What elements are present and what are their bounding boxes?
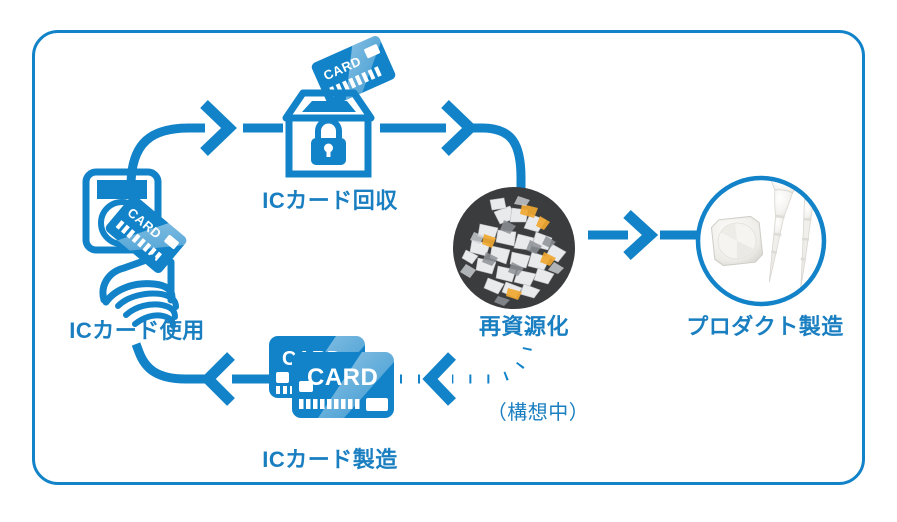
shredded-card-material-photo (453, 187, 575, 309)
node-label-product-manufacturing: プロダクト製造 (686, 309, 844, 341)
diagram-graphics-layer: CARD CARD (0, 0, 897, 522)
stacked-ic-cards-icon: CARD CARD (269, 336, 394, 418)
connector-collection-to-recycling (380, 104, 521, 190)
annotation-planned-note: （構想中） (487, 396, 590, 425)
node-label-ic-card-collection: ICカード回収 (262, 183, 398, 215)
node-label-ic-card-use: ICカード使用 (69, 313, 205, 345)
svg-text:CARD: CARD (307, 364, 378, 391)
node-label-ic-card-manufacturing: ICカード製造 (262, 442, 398, 474)
connector-recycling-to-product (588, 214, 700, 256)
connector-card-manufacturing-to-use (136, 344, 272, 402)
locked-collection-box-icon: CARD (286, 34, 397, 174)
golf-tees-and-marker-photo (696, 159, 828, 308)
hand-holding-card-over-reader-icon: CARD (86, 172, 188, 326)
diagram-canvas: CARD CARD (0, 0, 897, 522)
node-label-recycling: 再資源化 (479, 309, 569, 341)
